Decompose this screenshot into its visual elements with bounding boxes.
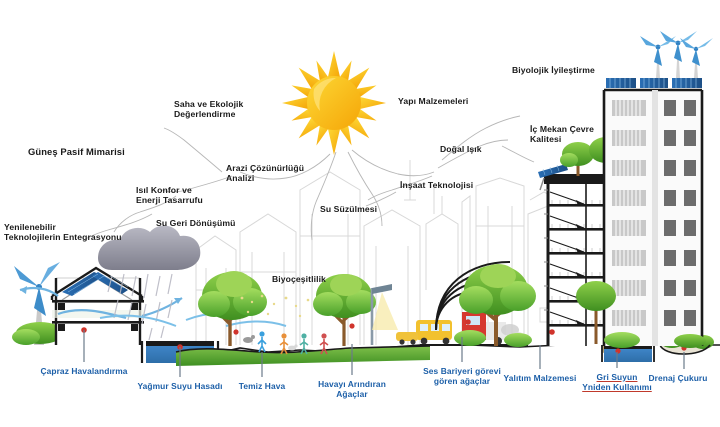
- label-insaat-teknolojisi: İnşaat Teknolojisi: [400, 180, 473, 190]
- label-yenilenebilir-teknolojilerin-entegrasyonu: Yenilenebilir Teknolojilerin Entegrasyon…: [4, 222, 122, 243]
- label-su-geri-donusumu: Su Geri Dönüşümü: [156, 218, 235, 228]
- infographic-canvas: Güneş Pasif Mimarisi Saha ve Ekolojik De…: [0, 0, 720, 427]
- label-biyolojik-iyilestirme: Biyolojik İyileştirme: [512, 65, 595, 75]
- car-icon: [396, 332, 418, 345]
- connector-lines: [84, 116, 534, 240]
- label-yapi-malzemeleri: Yapı Malzemeleri: [398, 96, 468, 106]
- label-drenaj-cukuru: Drenaj Çukuru: [636, 373, 720, 383]
- label-saha-ve-ekolojik-degerlendirme: Saha ve Ekolojik Değerlendirme: [174, 99, 243, 120]
- label-arazi-cozunurlugu-analizi: Arazi Çözünürlüğü Analizi: [226, 163, 304, 184]
- greywater-tank: [602, 345, 654, 362]
- label-su-suzulmesi: Su Süzülmesi: [320, 204, 377, 214]
- label-biyocesitlilik: Biyoçeşitlilik: [272, 274, 326, 284]
- label-isil-konfor-ve-enerji-tasarrufu: Isıl Konfor ve Enerji Tasarrufu: [136, 185, 203, 206]
- tree-icon: [198, 271, 267, 346]
- label-gunes-pasif-mimarisi: Güneş Pasif Mimarisi: [28, 146, 125, 157]
- label-havayi-arindiran-agaclar: Havayı Arındıran Ağaçlar: [292, 379, 412, 400]
- sun-icon: [263, 32, 404, 173]
- label-capraz-havalandirma: Çapraz Havalandırma: [4, 366, 164, 376]
- apartment-tower: [604, 31, 713, 348]
- tree-icon: [560, 142, 594, 176]
- label-dogal-isik: Doğal Işık: [440, 144, 482, 154]
- label-ic-mekan-cevre-kalitesi: İç Mekan Çevre Kalitesi: [530, 124, 594, 145]
- solar-panel-icon: [606, 78, 702, 88]
- wind-turbine-group-icon: [640, 31, 713, 78]
